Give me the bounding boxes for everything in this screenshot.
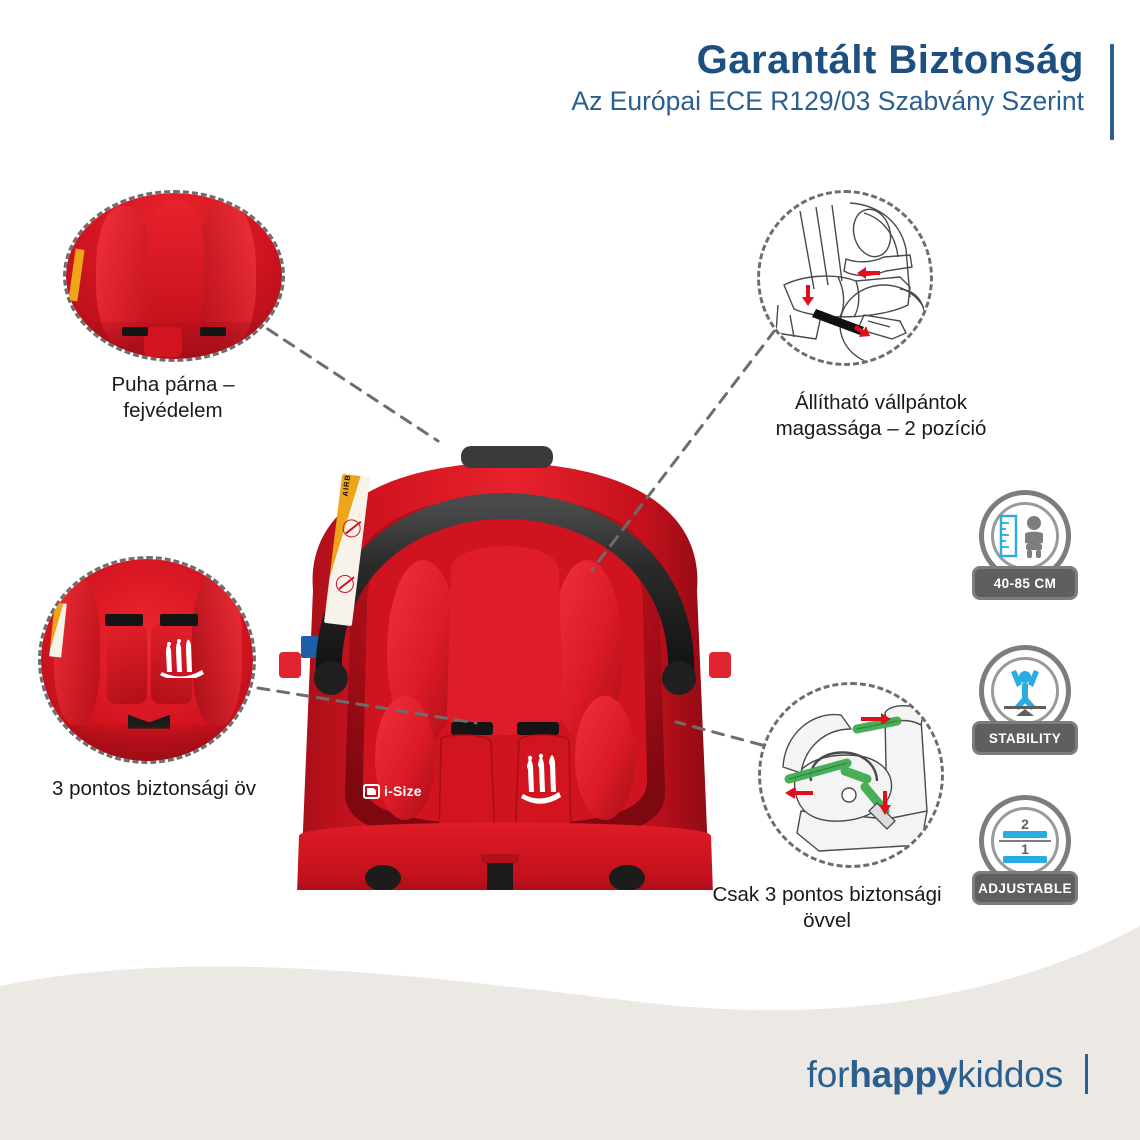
- callout-shoulder-strap-line1: Állítható vállpántok: [726, 390, 1036, 416]
- brand-bold: happy: [849, 1054, 957, 1095]
- product-image: AIRBAG i-Size: [255, 270, 755, 890]
- page-subtitle: Az Európai ECE R129/03 Szabvány Szerint: [400, 86, 1084, 118]
- i-size-icon: [363, 784, 380, 799]
- badge-height-plate: 40-85 CM: [972, 566, 1078, 600]
- page-title: Garantált Biztonság: [400, 38, 1084, 83]
- badge-stability: STABILITY: [972, 645, 1078, 755]
- footer-band: [0, 890, 1140, 1140]
- i-size-label: i-Size: [363, 783, 422, 799]
- belt-install-diagram: [761, 685, 941, 865]
- callout-head-cushion: Puha párna – fejvédelem: [38, 372, 308, 424]
- callout-harness-line1: 3 pontos biztonsági öv: [14, 776, 294, 802]
- badge-adjustable: 2 1 ADJUSTABLE: [972, 795, 1078, 905]
- brand-prefix: for: [807, 1054, 850, 1095]
- detail-bubble-belt-install: [758, 682, 944, 868]
- shoulder-strap-diagram: [760, 193, 930, 363]
- callout-head-cushion-line1: Puha párna –: [38, 372, 308, 398]
- brand-mark-harness: [160, 636, 206, 678]
- infographic-canvas: Garantált Biztonság Az Európai ECE R129/…: [0, 0, 1140, 1140]
- badge-height-range: 40-85 CM: [972, 490, 1078, 600]
- brand-accent-bar: [1085, 1054, 1088, 1094]
- two-position-icon: 2 1: [997, 816, 1053, 866]
- brand-logo: forhappykiddos: [807, 1054, 1088, 1096]
- detail-bubble-shoulder-strap: [757, 190, 933, 366]
- balance-figure-icon: [998, 666, 1052, 716]
- callout-shoulder-strap-line2: magassága – 2 pozíció: [726, 416, 1036, 442]
- airbag-warning-text: AIRBAG: [341, 474, 354, 497]
- badge-stability-plate: STABILITY: [972, 721, 1078, 755]
- callout-head-cushion-line2: fejvédelem: [38, 398, 308, 424]
- detail-bubble-head-cushion: [63, 190, 285, 362]
- detail-bubble-harness: [38, 556, 256, 764]
- ruler-baby-icon: [997, 513, 1053, 559]
- callout-harness: 3 pontos biztonsági öv: [14, 776, 294, 802]
- brand-suffix: kiddos: [957, 1054, 1063, 1095]
- i-size-text: i-Size: [384, 783, 422, 799]
- header-accent-bar: [1110, 44, 1114, 140]
- callout-shoulder-strap: Állítható vállpántok magassága – 2 pozíc…: [726, 390, 1036, 442]
- header: Garantált Biztonság Az Európai ECE R129/…: [400, 38, 1140, 118]
- position-2-label: 2: [1021, 816, 1029, 832]
- position-1-label: 1: [1021, 841, 1029, 857]
